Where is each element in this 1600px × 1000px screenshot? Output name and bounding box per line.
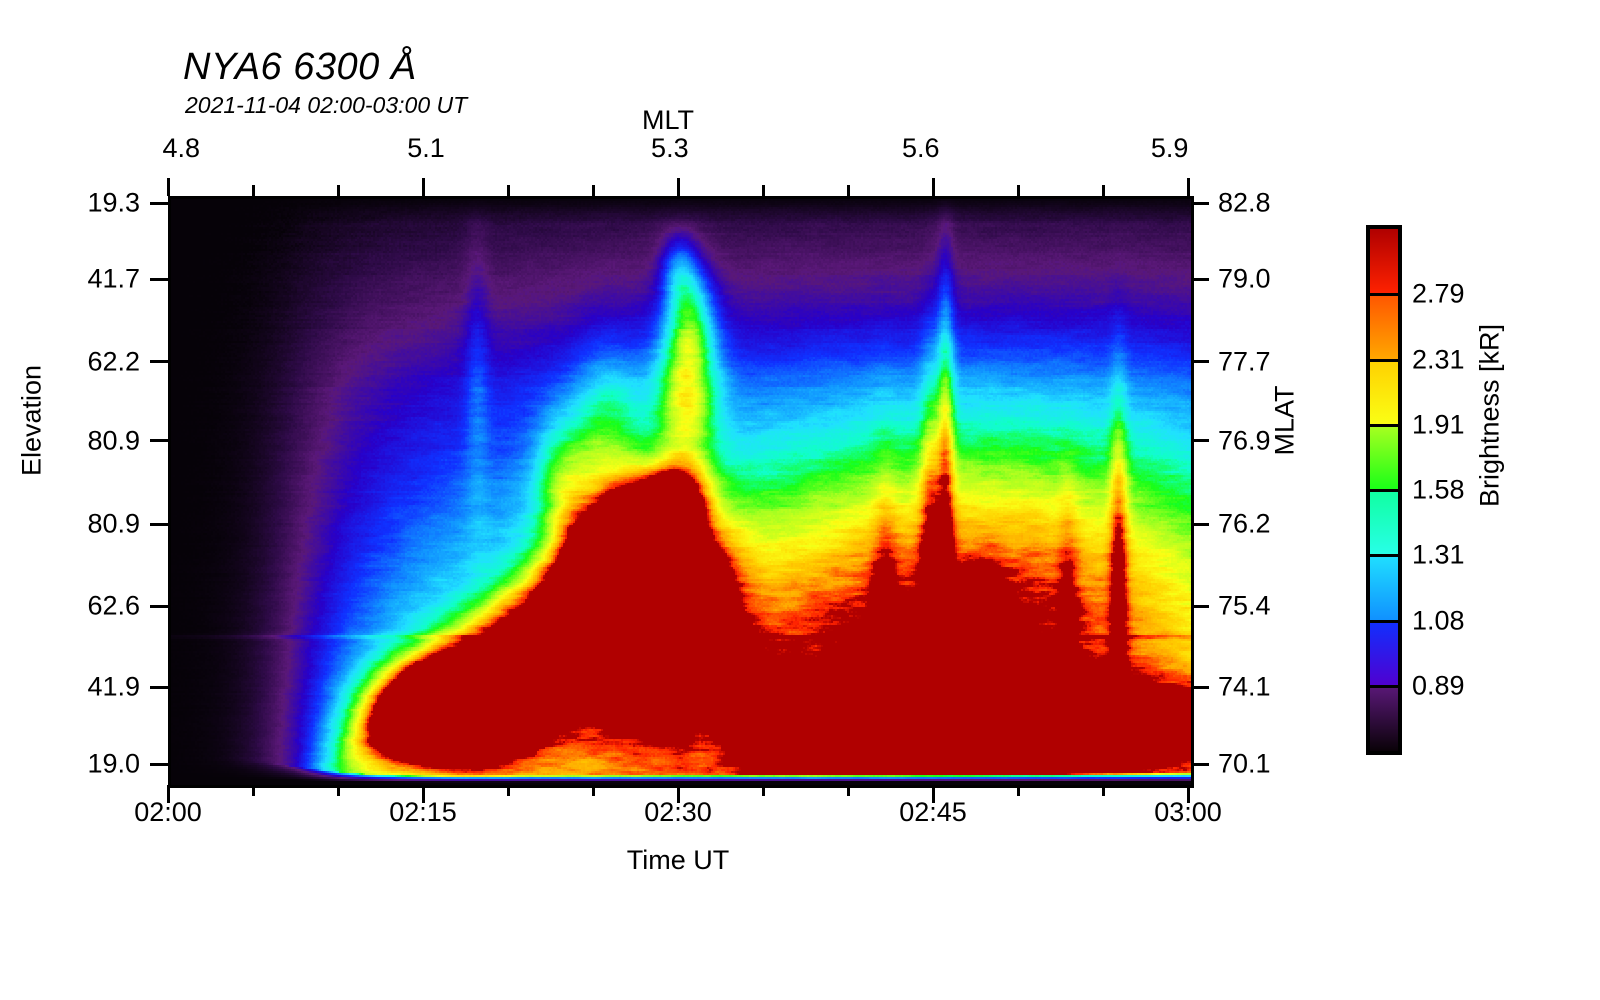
- colorbar-axis-title: Brightness [kR]: [1475, 296, 1506, 536]
- right-axis-tick: [1191, 202, 1209, 205]
- colorbar-band-separator: [1370, 293, 1398, 296]
- bottom-axis-tick: [847, 785, 850, 796]
- bottom-axis-tick: [592, 785, 595, 796]
- left-axis-tick-label: 41.9: [0, 672, 140, 703]
- top-axis-tick: [337, 185, 340, 196]
- top-axis-tick-label: 5.6: [902, 133, 940, 164]
- bottom-axis-tick: [762, 785, 765, 796]
- right-axis-tick-label: 74.1: [1218, 672, 1271, 703]
- right-axis-tick-label: 77.7: [1218, 346, 1271, 377]
- bottom-axis-tick: [507, 785, 510, 796]
- colorbar-band: [1370, 621, 1398, 686]
- top-axis-tick-label: 4.8: [162, 133, 200, 164]
- top-axis-tick: [252, 185, 255, 196]
- top-axis-tick-label: 5.9: [1151, 133, 1189, 164]
- colorbar-tick-label: 1.08: [1412, 605, 1465, 636]
- colorbar-band: [1370, 555, 1398, 620]
- bottom-axis-tick-label: 02:00: [134, 797, 202, 828]
- right-axis-tick: [1191, 605, 1209, 608]
- right-axis-tick-label: 79.0: [1218, 264, 1271, 295]
- right-axis-tick: [1191, 278, 1209, 281]
- left-axis-tick: [150, 523, 168, 526]
- left-axis-tick-label: 62.2: [0, 346, 140, 377]
- top-axis-tick: [677, 178, 680, 196]
- colorbar-band: [1370, 686, 1398, 751]
- top-axis-tick: [1017, 185, 1020, 196]
- left-axis-tick: [150, 439, 168, 442]
- colorbar-band-separator: [1370, 489, 1398, 492]
- colorbar-tick-label: 2.31: [1412, 344, 1465, 375]
- top-axis-tick: [762, 185, 765, 196]
- left-axis-tick: [150, 202, 168, 205]
- page-title: NYA6 6300 Å: [183, 46, 417, 89]
- colorbar-band-separator: [1370, 685, 1398, 688]
- colorbar-band: [1370, 294, 1398, 359]
- right-axis-tick-label: 82.8: [1218, 188, 1271, 219]
- left-axis-tick: [150, 605, 168, 608]
- right-axis-tick: [1191, 439, 1209, 442]
- colorbar-band: [1370, 490, 1398, 555]
- right-axis-tick-label: 70.1: [1218, 749, 1271, 780]
- top-axis-tick: [847, 185, 850, 196]
- colorbar-tick-label: 1.31: [1412, 540, 1465, 571]
- colorbar-band: [1370, 425, 1398, 490]
- left-axis-tick-label: 80.9: [0, 425, 140, 456]
- right-axis-tick: [1191, 686, 1209, 689]
- left-axis-tick-label: 19.0: [0, 749, 140, 780]
- keogram-image: [171, 199, 1191, 785]
- top-axis-title-text: MLT: [642, 105, 694, 135]
- right-axis-tick: [1191, 523, 1209, 526]
- top-axis-tick: [1187, 178, 1190, 196]
- colorbar-band: [1370, 360, 1398, 425]
- keogram-plot: [168, 196, 1194, 788]
- colorbar-tick-label: 1.58: [1412, 475, 1465, 506]
- left-axis-tick-label: 19.3: [0, 188, 140, 219]
- bottom-axis-tick-label: 02:30: [644, 797, 712, 828]
- right-axis-title: MLAT: [1270, 341, 1301, 501]
- left-axis-tick: [150, 686, 168, 689]
- top-axis-title: MLT: [0, 105, 1356, 136]
- top-axis-tick: [932, 178, 935, 196]
- bottom-axis-tick: [1017, 785, 1020, 796]
- colorbar-tick-label: 0.89: [1412, 670, 1465, 701]
- top-axis-tick: [507, 185, 510, 196]
- colorbar-band: [1370, 229, 1398, 294]
- colorbar-tick-label: 2.79: [1412, 279, 1465, 310]
- left-axis-tick: [150, 360, 168, 363]
- bottom-axis-tick-label: 03:00: [1154, 797, 1222, 828]
- right-axis-tick-label: 76.2: [1218, 509, 1271, 540]
- top-axis-tick: [592, 185, 595, 196]
- top-axis-tick: [422, 178, 425, 196]
- right-axis-tick-label: 76.9: [1218, 425, 1271, 456]
- bottom-axis-tick-label: 02:45: [899, 797, 967, 828]
- bottom-axis-tick: [337, 785, 340, 796]
- bottom-axis-tick-label: 02:15: [389, 797, 457, 828]
- keogram-canvas: [171, 199, 1191, 785]
- colorbar-tick-label: 1.91: [1412, 409, 1465, 440]
- colorbar-band-separator: [1370, 359, 1398, 362]
- bottom-axis-tick: [252, 785, 255, 796]
- top-axis-tick-label: 5.1: [407, 133, 445, 164]
- bottom-axis-tick: [1102, 785, 1105, 796]
- left-axis-tick-label: 62.6: [0, 591, 140, 622]
- right-axis-tick-label: 75.4: [1218, 591, 1271, 622]
- left-axis-tick-label: 80.9: [0, 509, 140, 540]
- right-axis-tick: [1191, 360, 1209, 363]
- bottom-axis-title: Time UT: [168, 845, 1188, 876]
- top-axis-tick: [167, 178, 170, 196]
- top-axis-tick: [1102, 185, 1105, 196]
- left-axis-tick-label: 41.7: [0, 264, 140, 295]
- colorbar-band-separator: [1370, 424, 1398, 427]
- colorbar: [1366, 225, 1402, 755]
- top-axis-tick-label: 5.3: [651, 133, 689, 164]
- right-axis-tick: [1191, 763, 1209, 766]
- left-axis-tick: [150, 278, 168, 281]
- left-axis-tick: [150, 763, 168, 766]
- colorbar-band-separator: [1370, 620, 1398, 623]
- colorbar-band-separator: [1370, 554, 1398, 557]
